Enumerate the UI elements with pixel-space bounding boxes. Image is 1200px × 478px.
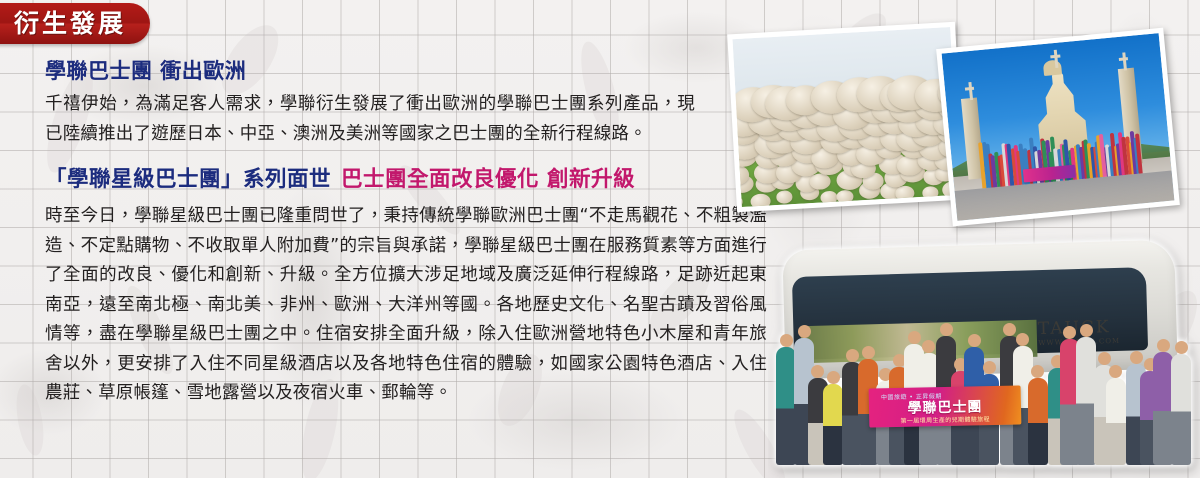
- section-2-paragraph: 時至今日，學聯星級巴士團已隆重問世了，秉持傳統學聯歐洲巴士團“不走馬觀花、不粗製…: [45, 202, 767, 409]
- section-2-heading: 「學聯星級巴士團」系列面世巴士團全面改良優化 創新升級: [45, 167, 745, 194]
- article-content: 學聯巴士團 衝出歐洲 千禧伊始，為滿足客人需求，學聯衍生發展了衝出歐洲的學聯巴士…: [45, 58, 745, 409]
- section-1-paragraph: 千禧伊始，為滿足客人需求，學聯衍生發展了衝出歐洲的學聯巴士團系列產品，現已陸續推…: [45, 90, 695, 149]
- section-tag-label: 衍生發展: [14, 11, 126, 36]
- section-2-heading-part-1: 「學聯星級巴士團」系列面世: [45, 167, 331, 192]
- section-1-heading: 學聯巴士團 衝出歐洲: [45, 58, 745, 84]
- church-group-photo-image: [942, 33, 1175, 221]
- bus-group-photo: TAUCK WWW.TAUCK.COM 中國旅遊 • 正昇假期 學聯巴士團 第一…: [768, 232, 1200, 478]
- section-2-heading-part-2: 巴士團全面改良優化 創新升級: [341, 167, 635, 192]
- bus-group-photo-image: TAUCK WWW.TAUCK.COM 中國旅遊 • 正昇假期 學聯巴士團 第一…: [776, 240, 1198, 470]
- tour-group-banner-bottom-text: 第一屆環周生產的兒期體驗旅程: [881, 414, 1009, 426]
- sheep-paddock-photo-image: [732, 27, 959, 207]
- tour-group-banner-top-text: 中國旅遊 • 正昇假期: [881, 391, 942, 401]
- promo-banner-page: 衍生發展 學聯巴士團 衝出歐洲 千禧伊始，為滿足客人需求，學聯衍生發展了衝出歐洲…: [0, 0, 1200, 478]
- sheep-paddock-photo: [727, 22, 965, 212]
- section-tag: 衍生發展: [0, 3, 150, 44]
- church-group-photo: [936, 28, 1180, 227]
- tour-group-banner: 中國旅遊 • 正昇假期 學聯巴士團 第一屆環周生產的兒期體驗旅程: [868, 386, 1021, 428]
